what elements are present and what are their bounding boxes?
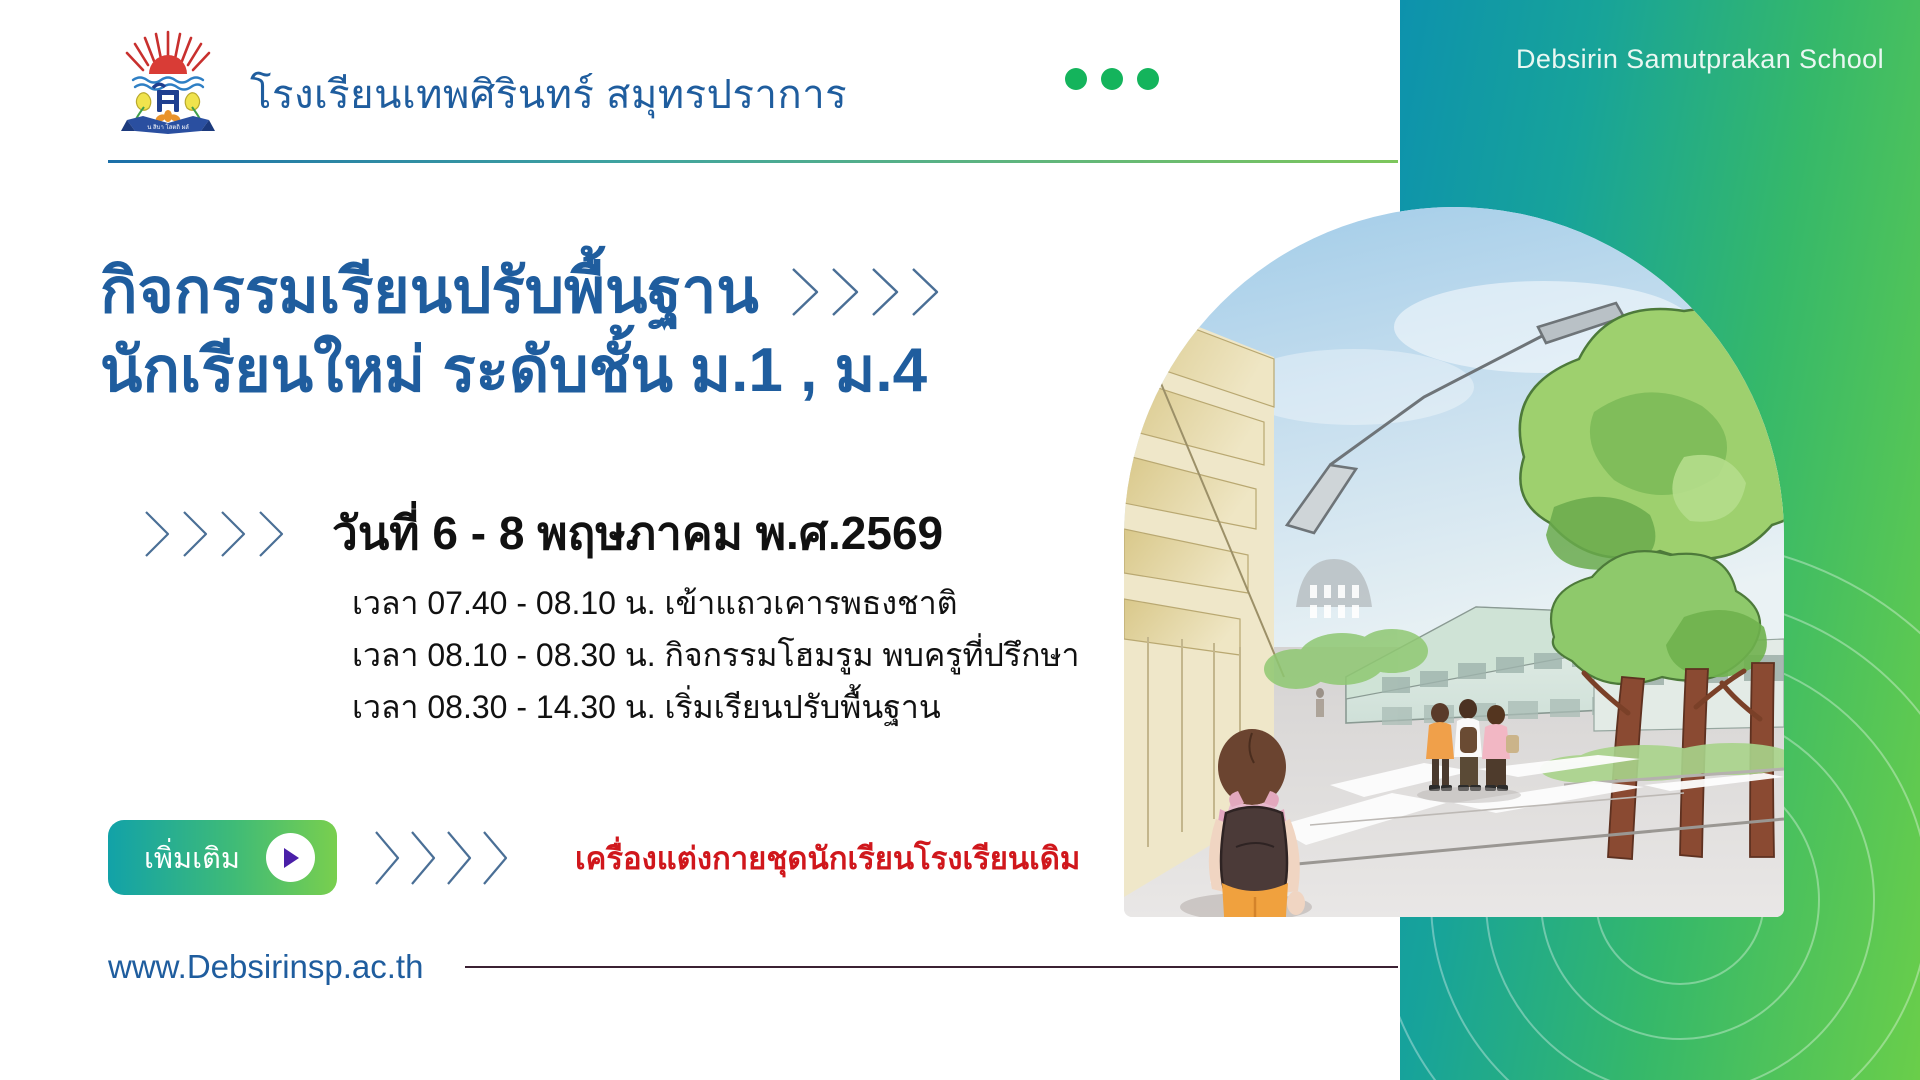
date-row: วันที่ 6 - 8 พฤษภาคม พ.ศ.2569 — [140, 497, 943, 570]
more-info-label: เพิ่มเติม — [144, 835, 240, 881]
play-icon — [266, 833, 315, 882]
schedule-item: เวลา 07.40 - 08.10 น. เข้าแถวเคารพธงชาติ — [352, 578, 1252, 630]
header: น สิบา โสตถิ ผลํ โรงเรียนเทพศิรินทร์ สมุ… — [0, 0, 1400, 178]
more-info-button[interactable]: เพิ่มเติม — [108, 820, 337, 895]
chevron-right-group-icon — [140, 508, 292, 560]
schedule-item: เวลา 08.30 - 14.30 น. เริ่มเรียนปรับพื้น… — [352, 682, 1252, 734]
svg-text:น สิบา โสตถิ ผลํ: น สิบา โสตถิ ผลํ — [147, 123, 189, 131]
footer: www.Debsirinsp.ac.th — [108, 948, 1398, 986]
website-url[interactable]: www.Debsirinsp.ac.th — [108, 948, 423, 986]
three-dots-icon — [1065, 68, 1159, 90]
schedule-item: เวลา 08.10 - 08.30 น. กิจกรรมโฮมรูม พบคร… — [352, 630, 1252, 682]
school-campus-walkway-illustration — [1124, 207, 1784, 917]
school-crest-icon: น สิบา โสตถิ ผลํ — [113, 28, 223, 136]
chevron-right-group-icon — [787, 265, 947, 319]
cta-row: เพิ่มเติม เครื่องแต่งกายชุดนักเรียนโรงเร… — [108, 820, 1080, 895]
headline-line-2: นักเรียนใหม่ ระดับชั้น ม.1 , ม.4 — [100, 331, 1130, 410]
chevron-right-group-icon — [371, 827, 515, 889]
uniform-note: เครื่องแต่งกายชุดนักเรียนโรงเรียนเดิม — [575, 833, 1080, 883]
footer-divider — [465, 966, 1398, 968]
schedule-list: เวลา 07.40 - 08.10 น. เข้าแถวเคารพธงชาติ… — [352, 578, 1252, 733]
headline-block: กิจกรรมเรียนปรับพื้นฐาน นักเรียนใหม่ ระด… — [100, 252, 1130, 411]
header-divider — [108, 160, 1398, 163]
poster-canvas: Debsirin Samutprakan School — [0, 0, 1920, 1080]
headline-line-1: กิจกรรมเรียนปรับพื้นฐาน — [100, 252, 759, 331]
event-date: วันที่ 6 - 8 พฤษภาคม พ.ศ.2569 — [332, 497, 943, 570]
panel-school-name-en: Debsirin Samutprakan School — [1516, 44, 1884, 75]
school-name-th: โรงเรียนเทพศิรินทร์ สมุทรปราการ — [250, 62, 847, 126]
